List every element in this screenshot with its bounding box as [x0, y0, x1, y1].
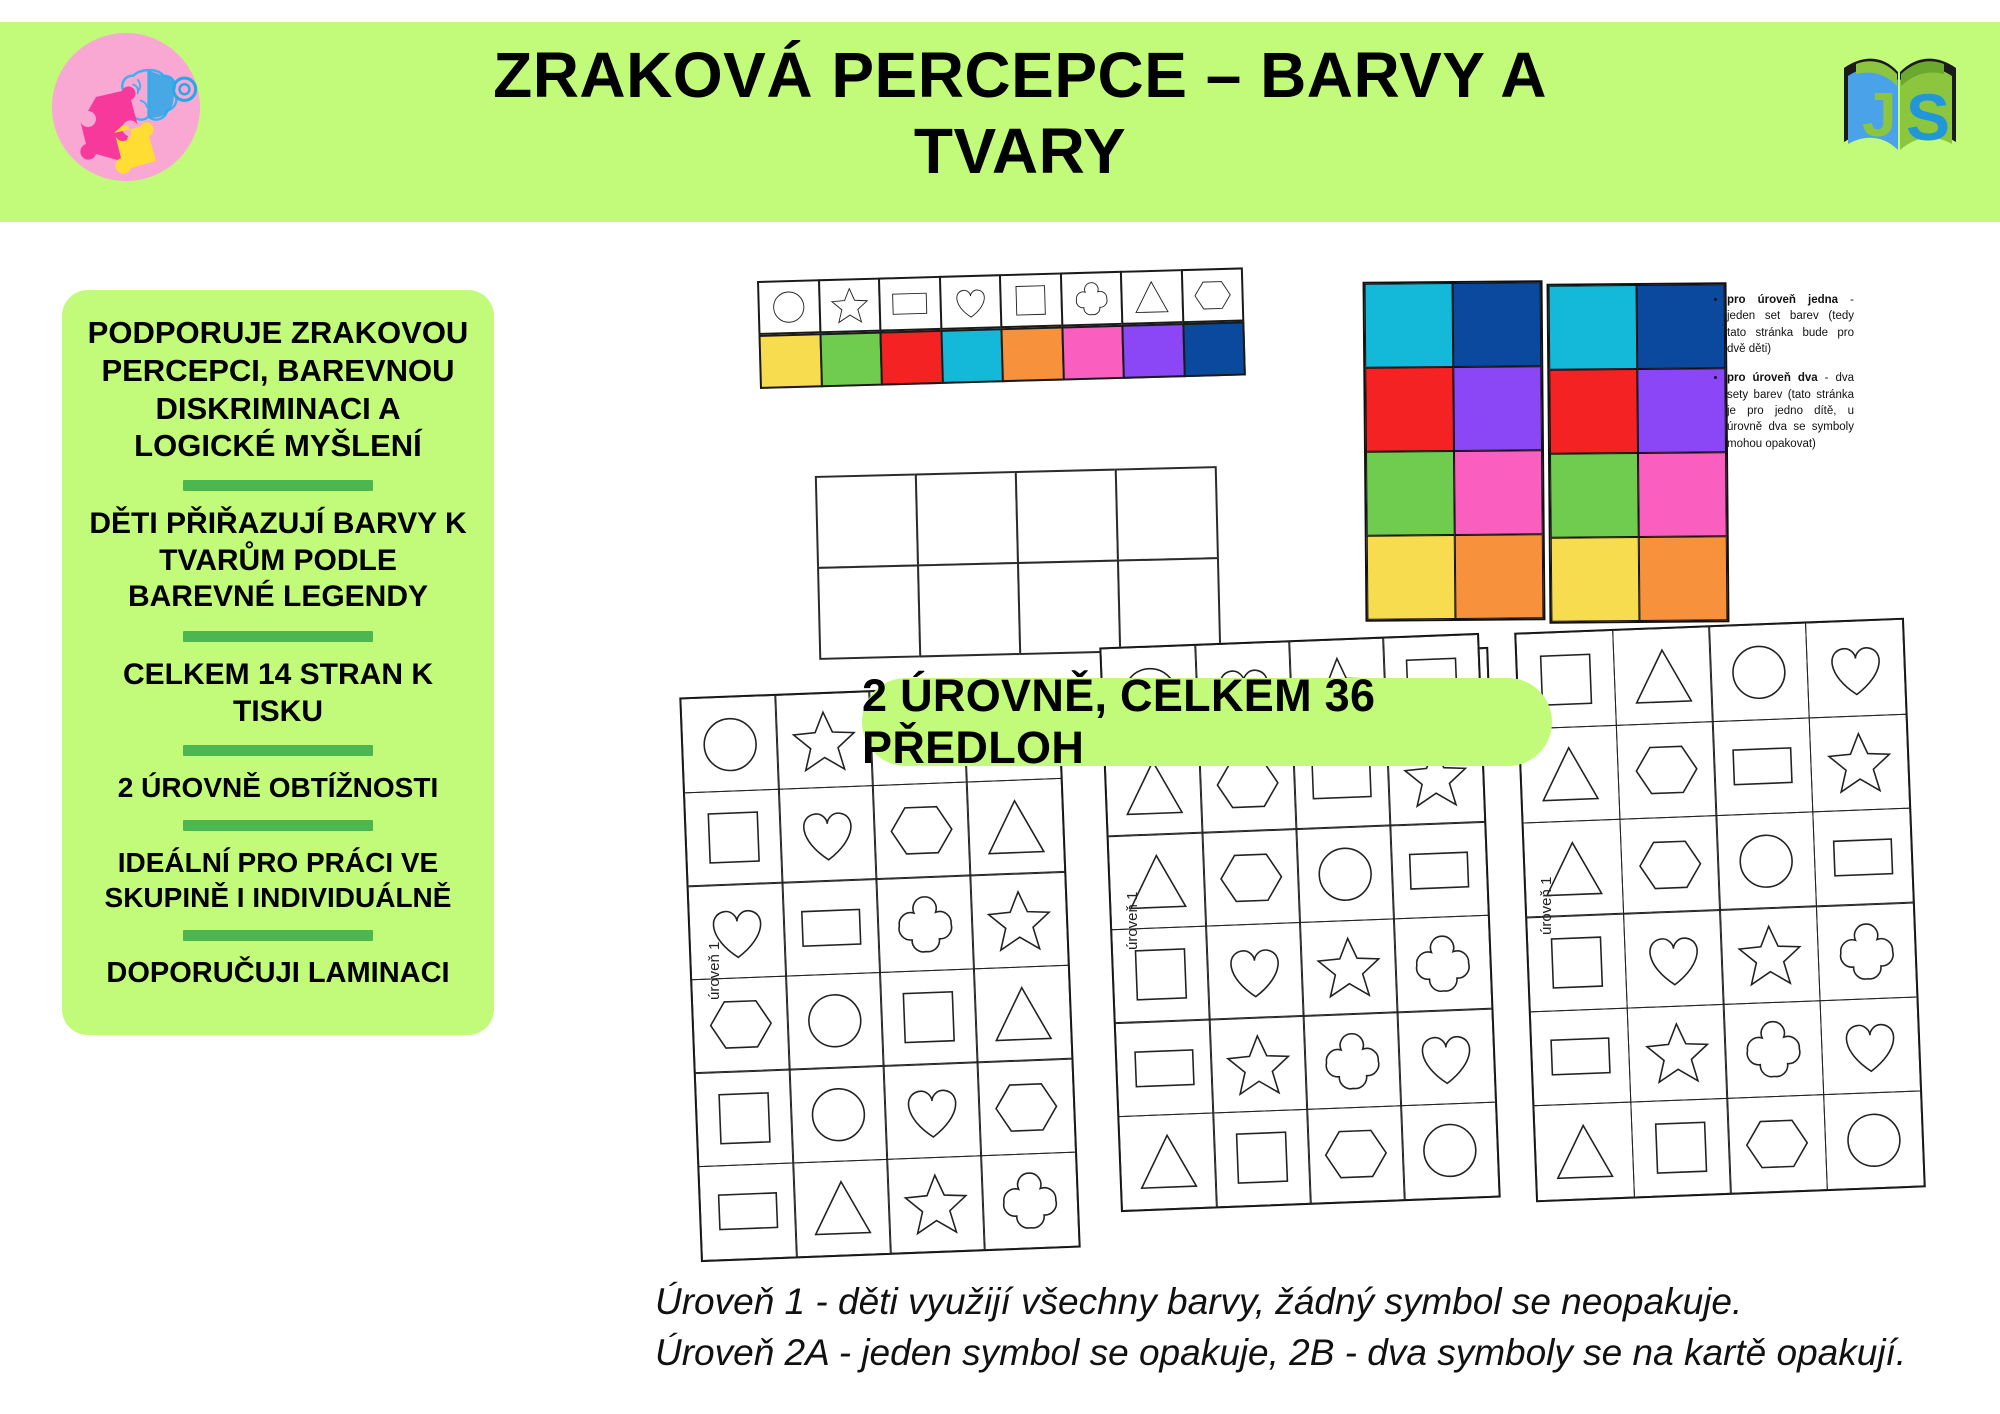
color-swatch-r0c0 — [1549, 285, 1638, 370]
shape-cell-circle — [1400, 1101, 1499, 1200]
shape-cell-heart — [1623, 909, 1725, 1009]
legend-color-yellow — [759, 333, 823, 389]
card-level-label: úroveň 1 — [1124, 892, 1141, 950]
feature-divider — [183, 631, 373, 642]
highlight-ribbon: 2 ÚROVNĚ, CELKEM 36 PŘEDLOH — [862, 678, 1552, 766]
shape-cell-circle — [681, 695, 780, 794]
feature-item: CELKEM 14 STRAN K TISKU — [76, 657, 480, 730]
shape-cell-star — [1299, 918, 1398, 1017]
legend-color-orange — [1000, 326, 1064, 382]
blank-cell — [1114, 466, 1219, 562]
legend-shape-rectangle — [878, 276, 942, 332]
shape-cell-triangle — [1534, 1101, 1636, 1201]
caption-line-1: Úroveň 1 - děti využijí všechny barvy, ž… — [655, 1276, 1985, 1327]
blank-cell — [917, 562, 1022, 658]
shape-cell-heart — [1805, 619, 1907, 719]
shape-cell-triangle — [1118, 1112, 1217, 1211]
shape-cell-hexagon — [977, 1058, 1076, 1157]
color-swatch-r2c1 — [1454, 450, 1543, 535]
feature-item: DOPORUČUJI LAMINACI — [76, 956, 480, 991]
color-swatch-r1c0 — [1365, 367, 1454, 452]
shape-cell-star — [1719, 905, 1821, 1005]
feature-divider — [183, 745, 373, 756]
color-swatch-r3c0 — [1551, 537, 1640, 622]
shape-cell-flower — [1393, 914, 1492, 1013]
shape-color-legend — [757, 267, 1260, 389]
shape-cell-square — [695, 1069, 794, 1168]
shape-cell-star — [886, 1155, 985, 1254]
shape-cell-triangle — [792, 1159, 891, 1258]
legend-shape-circle — [757, 279, 821, 335]
shape-cell-square — [684, 788, 783, 887]
feature-divider — [183, 480, 373, 491]
legend-color-green — [819, 332, 883, 388]
color-swatch-r3c1 — [1455, 534, 1544, 619]
blank-cell — [915, 471, 1020, 567]
feature-item: DĚTI PŘIŘAZUJÍ BARVY K TVARŮM PODLE BARE… — [76, 506, 480, 616]
note-bullet: pro úroveň dva - dva sety barev (tato st… — [1727, 370, 1854, 452]
shape-cell-heart — [778, 785, 877, 884]
shape-cell-rectangle — [1712, 717, 1814, 817]
note-lead: pro úroveň dva — [1727, 372, 1818, 384]
shape-cell-rectangle — [1115, 1019, 1214, 1118]
shape-cell-star — [774, 691, 873, 790]
shape-cell-heart — [1205, 922, 1304, 1021]
blank-cell — [817, 564, 922, 660]
shape-cell-rectangle — [1812, 807, 1914, 907]
shape-cell-square — [1630, 1098, 1732, 1198]
shape-cell-rectangle — [1390, 821, 1489, 920]
shape-cell-hexagon — [1619, 815, 1721, 915]
blank-template-grid — [816, 467, 1220, 659]
svg-text:S: S — [1906, 80, 1950, 154]
note-lead: pro úroveň jedna — [1727, 294, 1838, 306]
worksheet-card — [1514, 618, 1926, 1203]
shape-cell-circle — [1296, 825, 1395, 924]
legend-color-cyan — [940, 328, 1004, 384]
legend-shape-star — [817, 278, 881, 334]
legend-color-dark-blue — [1182, 321, 1246, 377]
note-bullet: pro úroveň jedna - jeden set barev (tedy… — [1727, 292, 1854, 357]
color-swatch-r0c0 — [1365, 283, 1454, 368]
legend-shape-square — [999, 272, 1063, 328]
svg-text:J: J — [1862, 81, 1896, 150]
shape-cell-heart — [883, 1061, 982, 1160]
shape-cell-heart — [688, 882, 787, 981]
open-book-js-logo: J S — [1838, 40, 1962, 158]
shape-cell-triangle — [973, 964, 1072, 1063]
shape-cell-hexagon — [1306, 1105, 1405, 1204]
shape-cell-flower — [1303, 1011, 1402, 1110]
shape-cell-triangle — [966, 778, 1065, 877]
legend-shape-hexagon — [1180, 267, 1244, 323]
shape-cell-square — [879, 968, 978, 1067]
color-swatch-r2c0 — [1366, 451, 1455, 536]
shape-cell-star — [1808, 713, 1910, 813]
blank-cell — [1017, 559, 1122, 655]
shape-cell-circle — [785, 972, 884, 1071]
blank-cell — [1117, 557, 1222, 653]
shape-cell-flower — [1723, 1000, 1825, 1100]
color-swatch-r3c0 — [1367, 535, 1456, 620]
color-swatch-r2c0 — [1550, 453, 1639, 538]
shape-cell-star — [1626, 1003, 1728, 1103]
legend-shape-flower — [1059, 271, 1123, 327]
legend-color-pink — [1061, 325, 1125, 381]
shape-cell-circle — [1823, 1090, 1925, 1190]
color-swatch-r1c0 — [1549, 369, 1638, 454]
shape-cell-flower — [980, 1151, 1079, 1250]
shape-cell-flower — [1816, 902, 1918, 1002]
card-level-label: úroveň 1 — [1538, 877, 1555, 935]
bottom-caption: Úroveň 1 - děti využijí všechny barvy, ž… — [655, 1276, 1985, 1378]
page-title: ZRAKOVÁ PERCEPCE – BARVY A TVARY — [430, 38, 1610, 189]
color-swatch-r1c1 — [1453, 366, 1542, 451]
legend-shape-heart — [938, 274, 1002, 330]
shape-cell-star — [1209, 1015, 1308, 1114]
shape-cell-star — [970, 871, 1069, 970]
shape-cell-hexagon — [1202, 828, 1301, 927]
color-set-grid-1 — [1363, 280, 1546, 622]
legend-color-red — [879, 330, 943, 386]
brain-puzzle-logo — [52, 33, 200, 181]
color-swatch-r0c1 — [1637, 284, 1726, 369]
feature-item: 2 ÚROVNĚ OBTÍŽNOSTI — [76, 771, 480, 805]
legend-shape-triangle — [1120, 269, 1184, 325]
shape-cell-rectangle — [782, 878, 881, 977]
legend-color-purple — [1121, 323, 1185, 379]
color-swatch-r0c1 — [1453, 282, 1542, 367]
shape-cell-heart — [1819, 996, 1921, 1096]
shape-cell-flower — [876, 875, 975, 974]
shape-cell-rectangle — [698, 1162, 797, 1261]
shape-cell-circle — [1716, 811, 1818, 911]
shape-cell-triangle — [1108, 832, 1207, 931]
shape-cell-circle — [789, 1065, 888, 1164]
shape-cell-circle — [1708, 623, 1810, 723]
feature-item: PODPORUJE ZRAKOVOU PERCEPCI, BAREVNOU DI… — [76, 314, 480, 465]
blank-cell — [1014, 468, 1119, 564]
poster-canvas: ZRAKOVÁ PERCEPCE – BARVY A TVARY J S POD… — [0, 0, 2000, 1414]
caption-line-2: Úroveň 2A - jeden symbol se opakuje, 2B … — [655, 1327, 1985, 1378]
feature-divider — [183, 820, 373, 831]
usage-notes: pro úroveň jedna - jeden set barev (tedy… — [1714, 292, 1854, 465]
shape-cell-hexagon — [872, 781, 971, 880]
shape-cell-heart — [1397, 1008, 1496, 1107]
shape-cell-rectangle — [1530, 1007, 1632, 1107]
shape-cell-square — [1212, 1109, 1311, 1208]
shape-cell-hexagon — [1616, 721, 1718, 821]
color-set-grid-2 — [1547, 282, 1730, 624]
blank-cell — [815, 473, 920, 569]
shape-cell-triangle — [1612, 626, 1714, 726]
card-level-label: úroveň 1 — [706, 942, 723, 1000]
feature-item: IDEÁLNÍ PRO PRÁCI VE SKUPINĚ I INDIVIDUÁ… — [76, 846, 480, 914]
color-swatch-r3c1 — [1639, 536, 1728, 621]
feature-divider — [183, 930, 373, 941]
shape-cell-hexagon — [1726, 1094, 1828, 1194]
feature-panel: PODPORUJE ZRAKOVOU PERCEPCI, BAREVNOU DI… — [62, 290, 494, 1035]
